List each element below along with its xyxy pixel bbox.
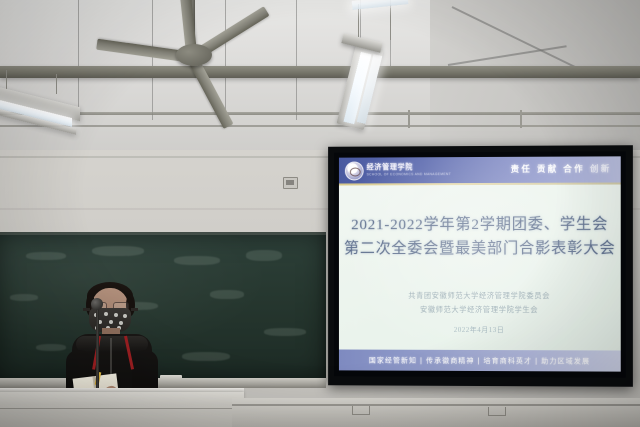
blackboard-top-frame [0, 232, 326, 235]
slide-header-gold-rule [339, 182, 621, 185]
slide-logo-subtext: SCHOOL OF ECONOMICS AND MANAGEMENT [367, 172, 451, 176]
slide-logo-text: 经济管理学院 [367, 162, 413, 172]
slogan-bright-text: 责任 贡献 合作 [511, 164, 585, 174]
desk-bracket [352, 406, 370, 415]
desk-bracket [488, 407, 506, 416]
presentation-slide: 经济管理学院 SCHOOL OF ECONOMICS AND MANAGEMEN… [339, 156, 621, 371]
light-fixture-left [0, 92, 82, 140]
slide-title-line-2: 第二次全委会暨最美部门合影表彰大会 [339, 237, 621, 261]
slide-footer-bar: 国家经管新知 | 传承徽商精神 | 培育商科英才 | 助力区域发展 [339, 349, 621, 371]
projection-screen: 经济管理学院 SCHOOL OF ECONOMICS AND MANAGEMEN… [328, 145, 633, 387]
slide-title-block: 2021-2022学年第2学期团委、学生会 第二次全委会暨最美部门合影表彰大会 [339, 213, 621, 261]
slide-footer-text: 国家经管新知 | 传承徽商精神 | 培育商科英才 | 助力区域发展 [369, 355, 590, 366]
classroom-photo-scene: 经济管理学院 SCHOOL OF ECONOMICS AND MANAGEMEN… [0, 0, 640, 427]
slide-header-bar: 经济管理学院 SCHOOL OF ECONOMICS AND MANAGEMEN… [339, 156, 621, 183]
podium-edge-seam [0, 408, 244, 409]
desk-rail [232, 404, 640, 406]
light-fixture-right [336, 38, 446, 148]
ceiling-beam [0, 66, 640, 78]
ceiling-beam-secondary [0, 112, 640, 115]
school-emblem-icon [345, 162, 364, 181]
light-fixture-top-center [352, 0, 416, 20]
ceiling-fan [118, 14, 298, 104]
ceiling-conduit-pipe [0, 125, 640, 127]
fluorescent-tube [352, 0, 409, 10]
fan-motor-housing [176, 44, 212, 66]
slide-subtitle-line-2: 安徽师范大学经济管理学院学生会 [339, 303, 621, 318]
slide-subtitle-line-1: 共青团安徽师范大学经济管理学院委员会 [339, 289, 621, 303]
slide-slogan: 责任 贡献 合作 创新 [511, 162, 612, 174]
wall-switch-box[interactable] [283, 177, 298, 189]
slide-title-line-1: 2021-2022学年第2学期团委、学生会 [339, 213, 621, 237]
slide-date: 2022年4月13日 [339, 322, 621, 339]
podium [0, 392, 244, 427]
slogan-dim-text: 创新 [590, 163, 612, 173]
front-desk-right [232, 398, 640, 427]
slide-subtitle-block: 共青团安徽师范大学经济管理学院委员会 安徽师范大学经济管理学院学生会 2022年… [339, 289, 621, 339]
projector-glow-overlay [339, 156, 621, 371]
microphone-head [91, 298, 103, 310]
shoulder-highlight [76, 336, 148, 352]
